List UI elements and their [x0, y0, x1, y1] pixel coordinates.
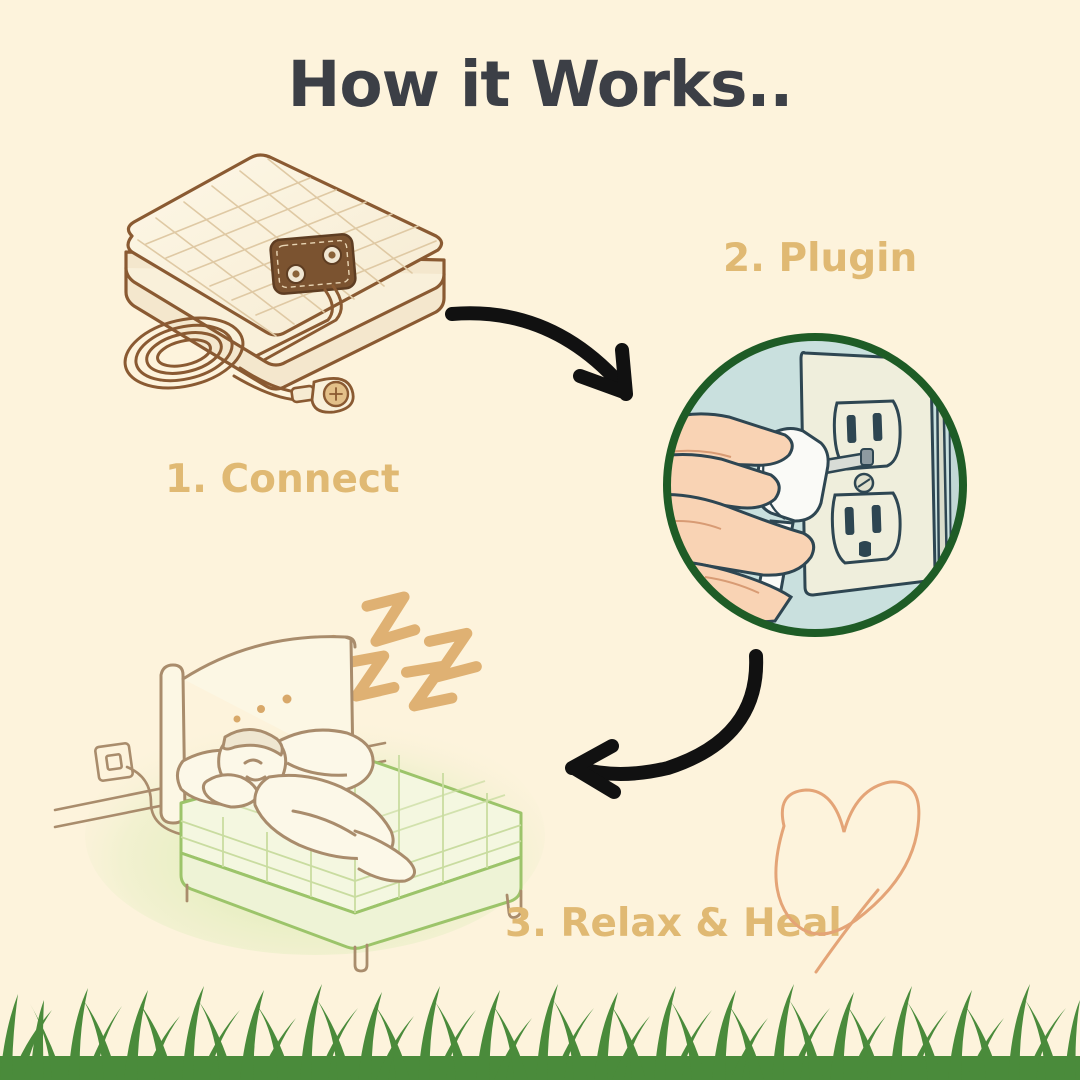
- step-1-label: 1. Connect: [165, 457, 400, 502]
- how-it-works-infographic: How it Works..: [0, 0, 1080, 1080]
- step-2-label: 2. Plugin: [723, 236, 917, 281]
- outlet-receptacle-lower: [832, 493, 900, 563]
- grounding-mat-illustration: [80, 140, 480, 440]
- snap-stud: [323, 246, 341, 264]
- cord-snap-connector: [291, 378, 353, 412]
- snap-stud: [287, 265, 305, 283]
- outlet-center-screw: [855, 474, 873, 492]
- plug-into-outlet-illustration: [655, 325, 975, 645]
- heart-doodle-icon: [752, 768, 932, 978]
- arrow-step1-to-step2-icon: [440, 288, 680, 408]
- grass-border: [0, 960, 1080, 1080]
- sleeping-on-grounding-sheet-illustration: [55, 595, 565, 965]
- page-title: How it Works..: [0, 48, 1080, 121]
- mat-connector-patch: [270, 234, 356, 295]
